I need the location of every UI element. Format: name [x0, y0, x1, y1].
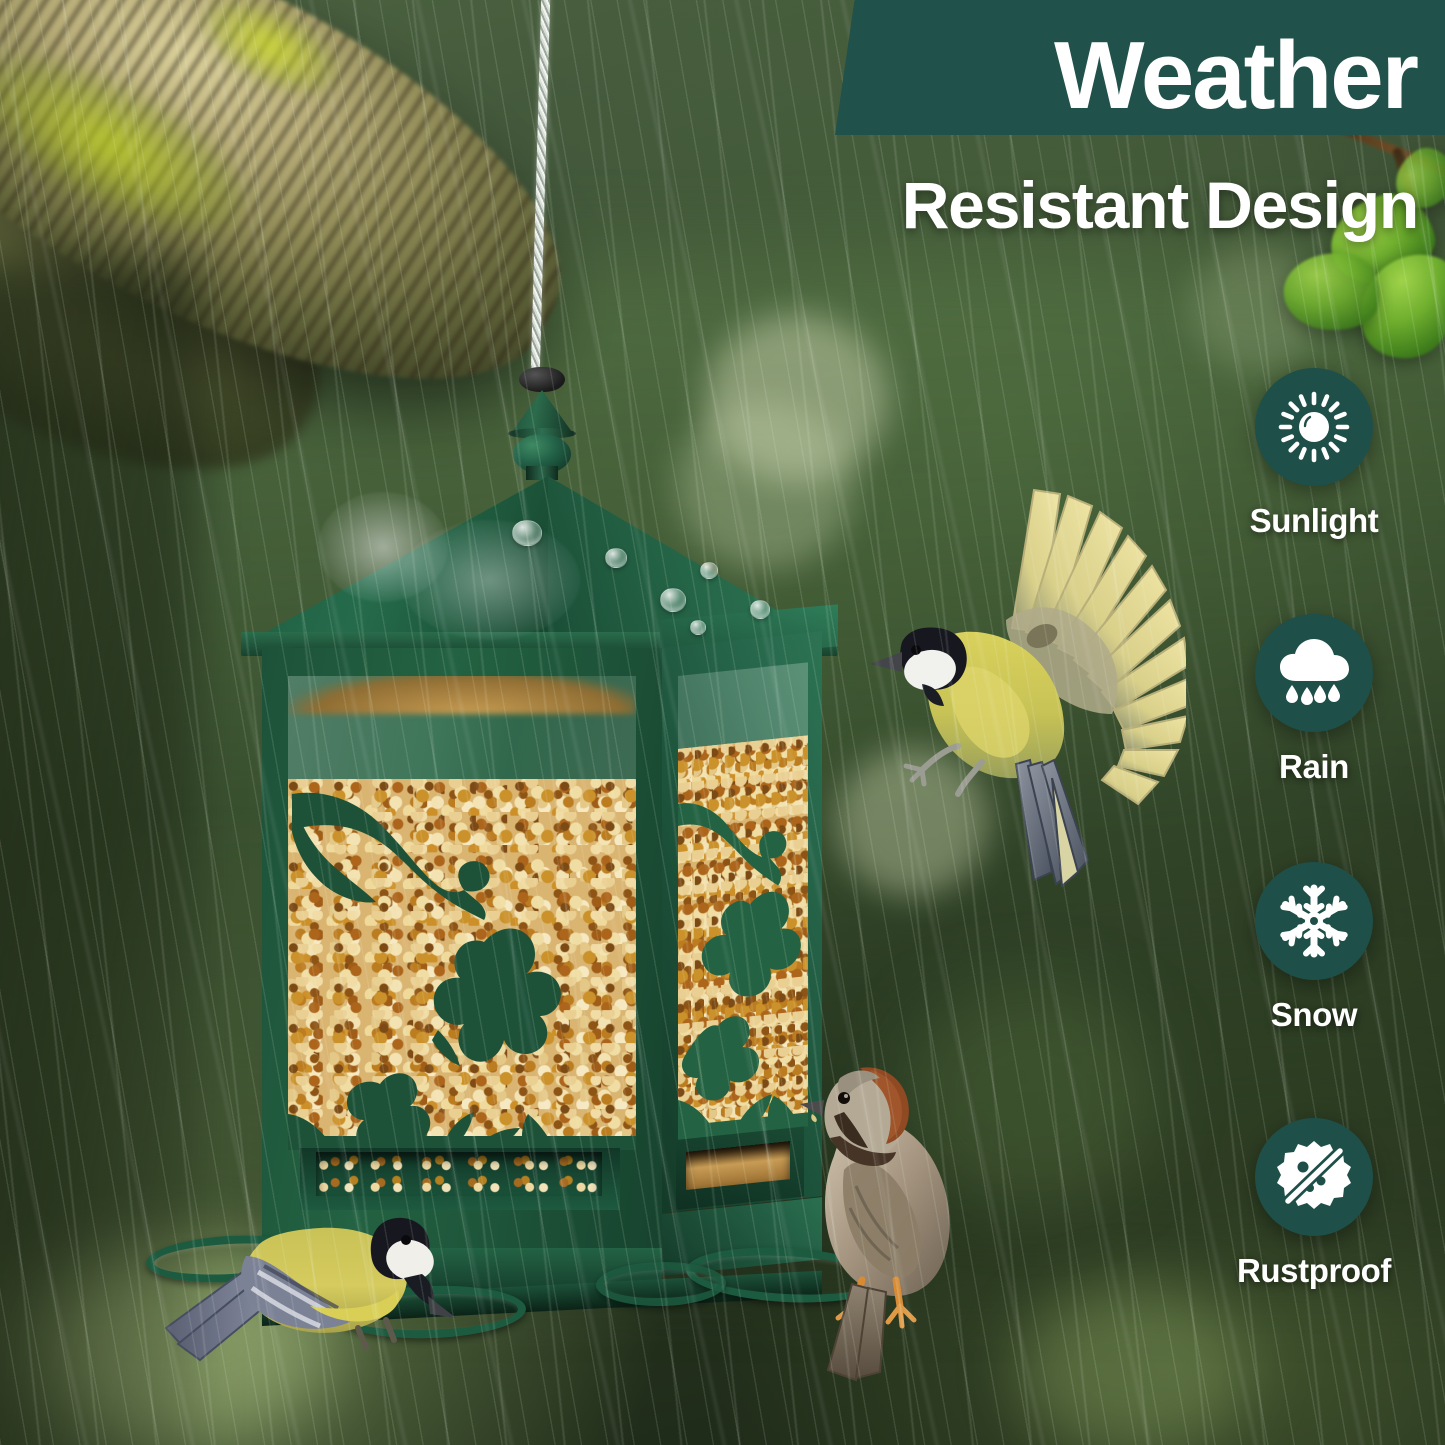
feature-rain[interactable]: Rain	[1199, 614, 1429, 786]
rain-cloud-icon	[1276, 637, 1352, 709]
feature-icon-circle	[1255, 862, 1373, 980]
feature-label: Sunlight	[1199, 502, 1429, 540]
feature-label: Snow	[1199, 996, 1429, 1034]
feature-snow[interactable]: Snow	[1199, 862, 1429, 1034]
feature-sunlight[interactable]: Sunlight	[1199, 368, 1429, 540]
feature-icon-circle	[1255, 368, 1373, 486]
product-marketing-image: Weather Resistant Design Sunlight	[0, 0, 1445, 1445]
page-subtitle: Resistant Design	[700, 172, 1418, 238]
page-title: Weather	[835, 28, 1417, 124]
snowflake-icon	[1276, 883, 1352, 959]
no-rust-icon	[1276, 1139, 1352, 1215]
feature-label: Rain	[1199, 748, 1429, 786]
feature-rustproof[interactable]: Rustproof	[1199, 1118, 1429, 1290]
sun-icon	[1277, 390, 1351, 464]
feature-icon-circle	[1255, 614, 1373, 732]
feature-icon-circle	[1255, 1118, 1373, 1236]
feature-label: Rustproof	[1199, 1252, 1429, 1290]
